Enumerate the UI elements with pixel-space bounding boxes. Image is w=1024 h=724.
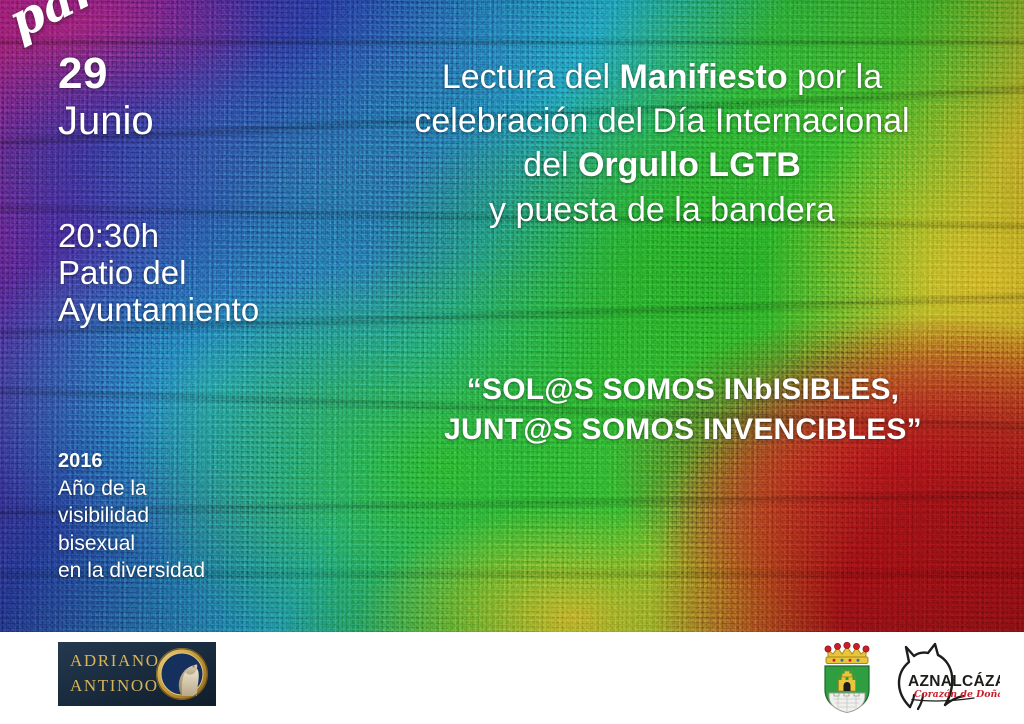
event-date-block: 29 Junio [58, 52, 154, 142]
event-time: 20:30h [58, 218, 259, 255]
headline-line-1: Lectura del Manifiesto por la [352, 55, 972, 99]
slogan-block: “SOL@S SOMOS INbISIBLES, JUNT@S SOMOS IN… [398, 370, 968, 449]
headline-orgullo-lgtb: Orgullo LGTB [578, 146, 801, 184]
headline-line-4: y puesta de la bandera [352, 188, 972, 232]
year-theme-line3: bisexual [58, 530, 205, 557]
adriano-antinoo-wordmark: ADRIANO ANTINOO [70, 649, 160, 698]
poster-root: 29 Junio 20:30h Patio del Ayuntamiento 2… [0, 0, 1024, 724]
adriano-line-2: ANTINOO [70, 674, 160, 699]
headline-line-2: celebración del Día Internacional [352, 99, 972, 143]
headline-block: Lectura del Manifiesto por la celebració… [352, 55, 972, 232]
event-month: Junio [58, 101, 154, 142]
town-logo-name: AZNALCÁZAR [908, 673, 1000, 690]
event-day: 29 [58, 52, 154, 97]
year-theme-line4: en la diversidad [58, 557, 205, 584]
headline-manifiesto: Manifiesto [620, 58, 788, 96]
town-logo-tagline: Corazón de Doñana [914, 689, 1000, 700]
aznalcazar-coat-of-arms-icon [816, 638, 878, 714]
footer-bar: ADRIANO ANTINOO [0, 632, 1024, 724]
year-label: 2016 [58, 448, 205, 474]
year-theme-line1: Año de la [58, 475, 205, 502]
event-venue-line1: Patio del [58, 255, 259, 292]
headline-line1-pre: Lectura del [442, 58, 620, 96]
event-venue-line2: Ayuntamiento [58, 292, 259, 329]
classical-busts-medallion-icon [154, 646, 210, 702]
headline-line3-pre: del [523, 146, 578, 184]
slogan-line-2: JUNT@S SOMOS INVENCIBLES” [398, 410, 968, 450]
institutional-logos: AZNALCÁZAR Corazón de Doñana [816, 636, 1000, 716]
event-place-block: 20:30h Patio del Ayuntamiento [58, 218, 259, 329]
slogan-line-1: “SOL@S SOMOS INbISIBLES, [398, 370, 968, 410]
year-theme-line2: visibilidad [58, 502, 205, 529]
adriano-antinoo-logo: ADRIANO ANTINOO [58, 642, 216, 706]
year-theme-block: 2016 Año de la visibilidad bisexual en l… [58, 448, 205, 584]
headline-line-3: del Orgullo LGTB [352, 143, 972, 187]
aznalcazar-corazon-de-donana-logo: AZNALCÁZAR Corazón de Doñana [888, 641, 1000, 711]
adriano-line-1: ADRIANO [70, 649, 160, 674]
headline-line1-post: por la [788, 58, 883, 96]
